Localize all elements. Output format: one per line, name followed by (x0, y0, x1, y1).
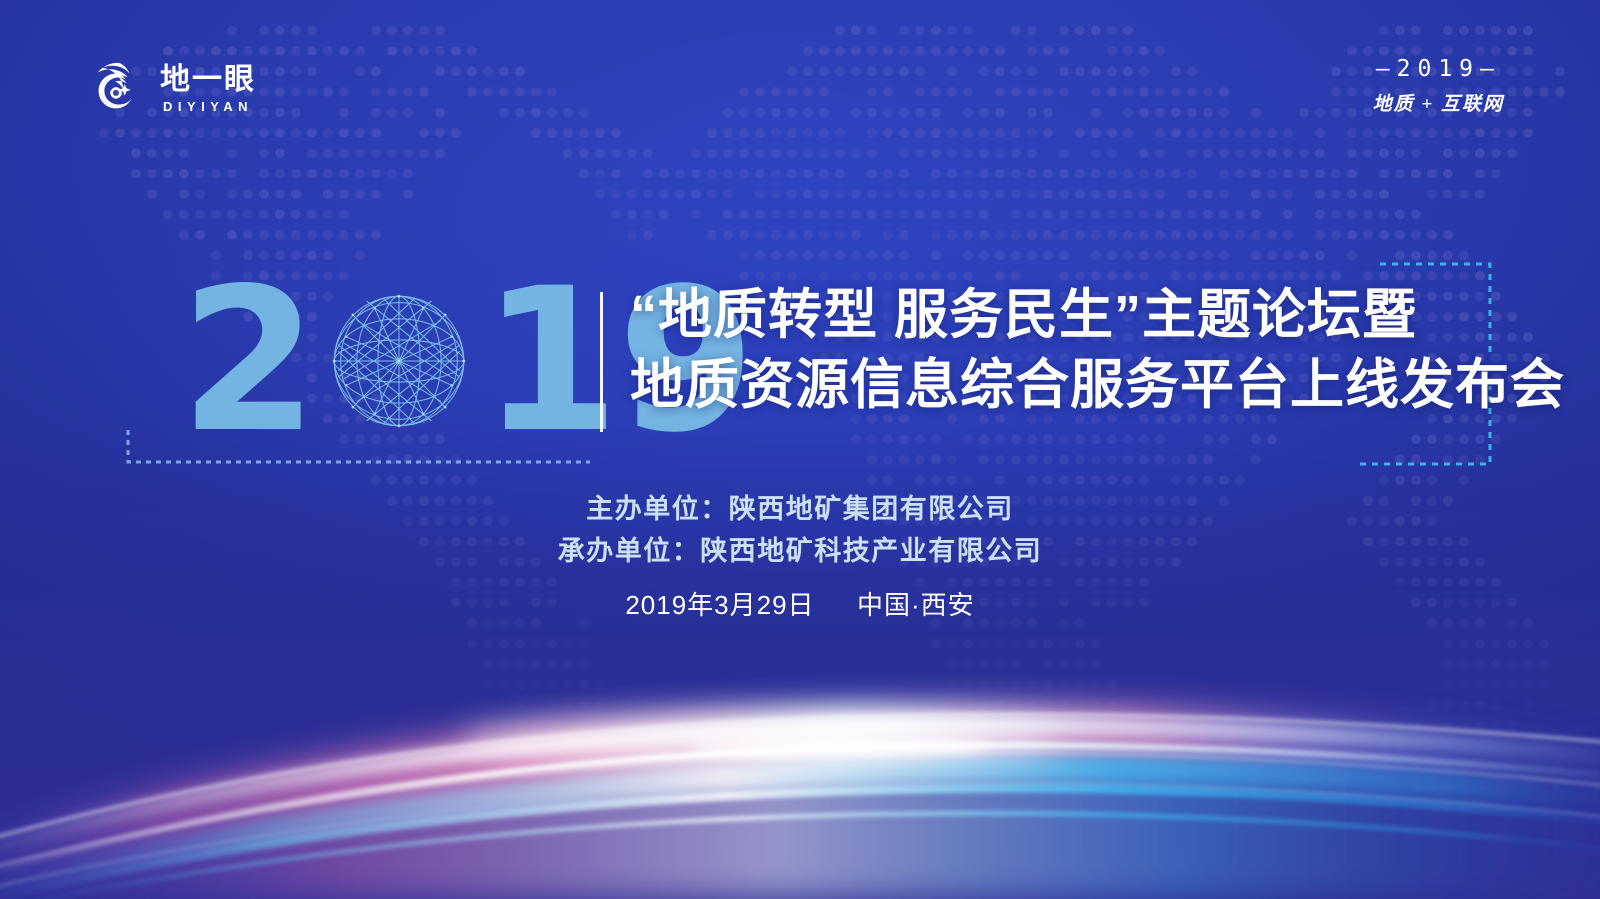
event-title: “地质转型 服务民生”主题论坛暨 地质资源信息综合服务平台上线发布会 (630, 280, 1500, 420)
co-organizer-line: 承办单位：陕西地矿科技产业有限公司 (0, 530, 1600, 572)
event-date: 2019年3月29日 (625, 590, 814, 620)
swirl-eye-icon (86, 58, 148, 120)
organizer-line: 主办单位：陕西地矿集团有限公司 (0, 488, 1600, 530)
brand-logo[interactable]: 地一眼 DIYIYAN (86, 58, 256, 120)
event-title-line-1: “地质转型 服务民生”主题论坛暨 (630, 280, 1500, 350)
top-right-mark: —2019— 地质 + 互联网 (1373, 56, 1504, 116)
year-digit-1: 1 (482, 284, 618, 438)
logo-name-cn: 地一眼 (160, 65, 256, 95)
top-right-year: —2019— (1373, 56, 1504, 82)
poster-canvas: 地一眼 DIYIYAN —2019— 地质 + 互联网 2 (0, 0, 1600, 899)
date-location-line: 2019年3月29日 中国·西安 (0, 585, 1600, 622)
title-divider (600, 292, 603, 432)
event-location: 中国·西安 (857, 590, 975, 620)
event-title-line-2: 地质资源信息综合服务平台上线发布会 (630, 350, 1500, 420)
event-details: 主办单位：陕西地矿集团有限公司 承办单位：陕西地矿科技产业有限公司 2019年3… (0, 488, 1600, 622)
top-right-tagline: 地质 + 互联网 (1373, 89, 1504, 116)
year-digit-2: 2 (180, 284, 316, 438)
wireframe-globe-icon (318, 280, 480, 442)
hero-block: 2 (120, 258, 1498, 470)
logo-name-en: DIYIYAN (163, 100, 253, 113)
